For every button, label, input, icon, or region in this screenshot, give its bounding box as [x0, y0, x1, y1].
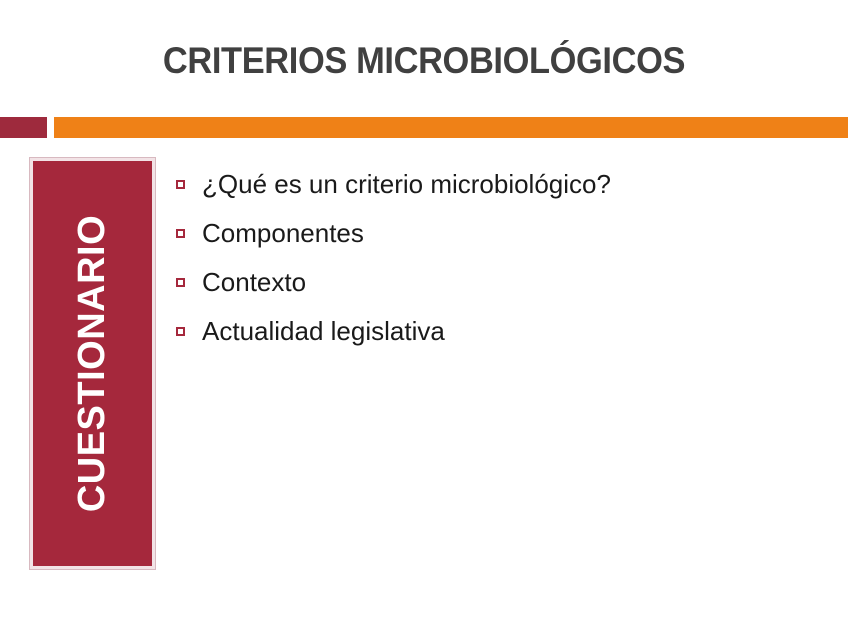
list-item: ¿Qué es un criterio microbiológico?: [176, 167, 826, 216]
list-item-label: Contexto: [202, 265, 306, 299]
page-title: CRITERIOS MICROBIOLÓGICOS: [30, 38, 819, 84]
side-banner-label: CUESTIONARIO: [71, 215, 114, 512]
list-item: Componentes: [176, 216, 826, 265]
divider-accent-block: [0, 117, 47, 138]
list-item: Actualidad legislativa: [176, 314, 826, 363]
bullet-list: ¿Qué es un criterio microbiológico? Comp…: [176, 167, 826, 363]
square-bullet-icon: [176, 327, 185, 336]
divider-bar: [54, 117, 848, 138]
list-item-label: ¿Qué es un criterio microbiológico?: [202, 167, 611, 201]
list-item-label: Componentes: [202, 216, 364, 250]
side-banner: CUESTIONARIO: [30, 158, 155, 569]
square-bullet-icon: [176, 278, 185, 287]
square-bullet-icon: [176, 180, 185, 189]
list-item-label: Actualidad legislativa: [202, 314, 445, 348]
square-bullet-icon: [176, 229, 185, 238]
presentation-slide: CRITERIOS MICROBIOLÓGICOS CUESTIONARIO ¿…: [0, 0, 848, 636]
list-item: Contexto: [176, 265, 826, 314]
